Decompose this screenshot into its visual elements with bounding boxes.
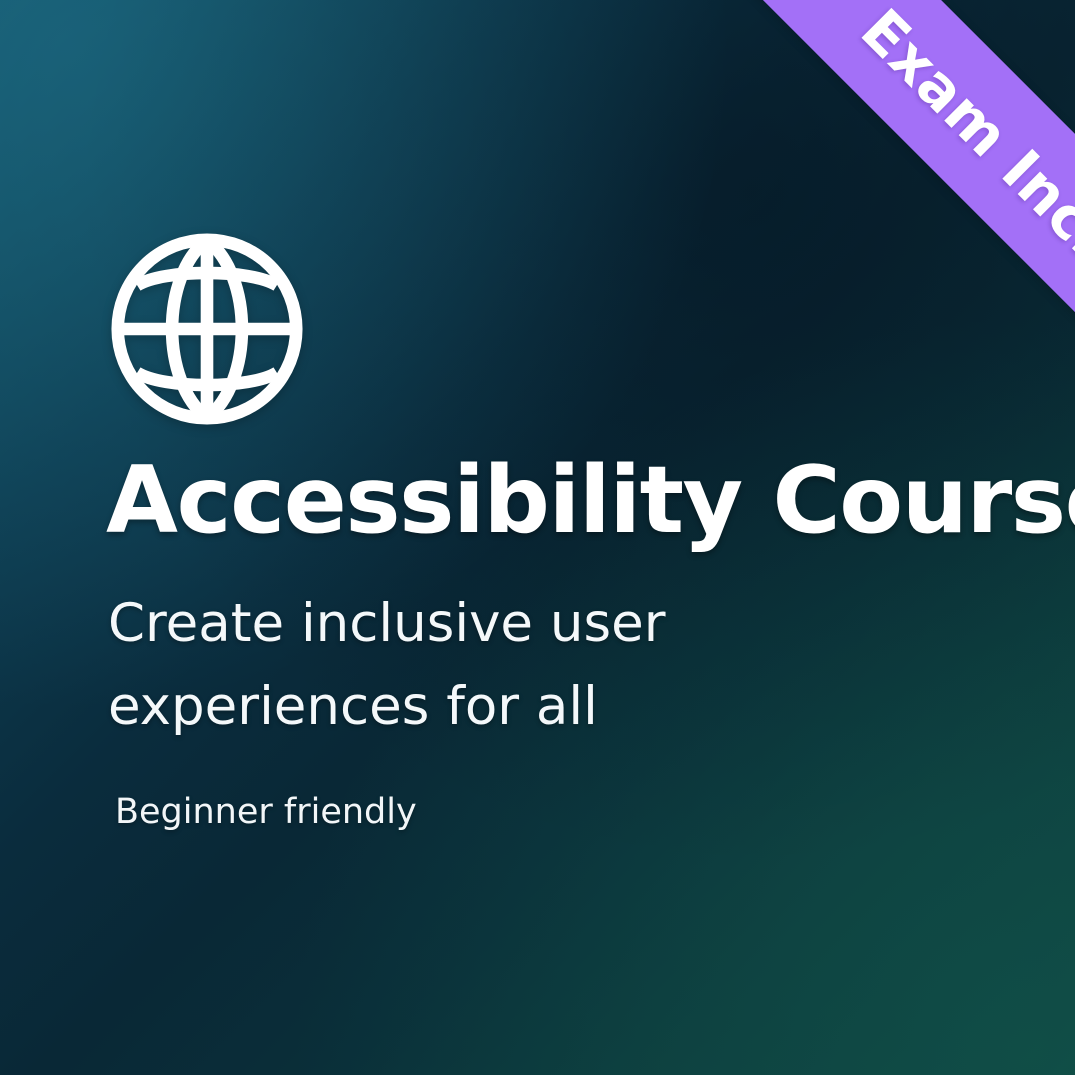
globe-icon	[110, 232, 304, 426]
course-tagline: Beginner friendly	[115, 791, 1055, 833]
course-card: Exam Included Accessibility Course Creat…	[0, 0, 1075, 1075]
page-title: Accessibility Course	[106, 452, 1055, 550]
course-subtitle: Create inclusive user experiences for al…	[108, 582, 668, 749]
card-content: Accessibility Course Create inclusive us…	[108, 232, 1055, 833]
